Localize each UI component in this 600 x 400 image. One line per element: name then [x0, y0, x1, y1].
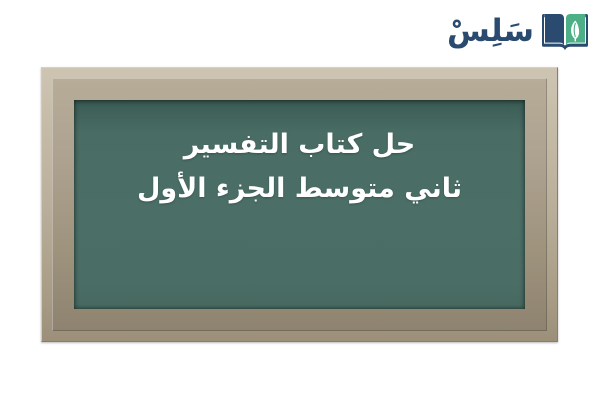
blackboard-title-line-1: حل كتاب التفسير	[137, 123, 462, 167]
blackboard-frame-outer: حل كتاب التفسير ثاني متوسط الجزء الأول	[41, 67, 558, 342]
blackboard-surface: حل كتاب التفسير ثاني متوسط الجزء الأول	[74, 100, 525, 309]
blackboard-frame-inner: حل كتاب التفسير ثاني متوسط الجزء الأول	[52, 78, 547, 331]
brand-wordmark: سَلِسْ	[447, 16, 534, 47]
blackboard-title-line-2: ثاني متوسط الجزء الأول	[137, 167, 462, 211]
open-book-icon	[542, 9, 588, 53]
blackboard-title: حل كتاب التفسير ثاني متوسط الجزء الأول	[137, 123, 462, 210]
brand-logo[interactable]: سَلِسْ	[447, 6, 588, 56]
blackboard: حل كتاب التفسير ثاني متوسط الجزء الأول	[41, 67, 558, 342]
